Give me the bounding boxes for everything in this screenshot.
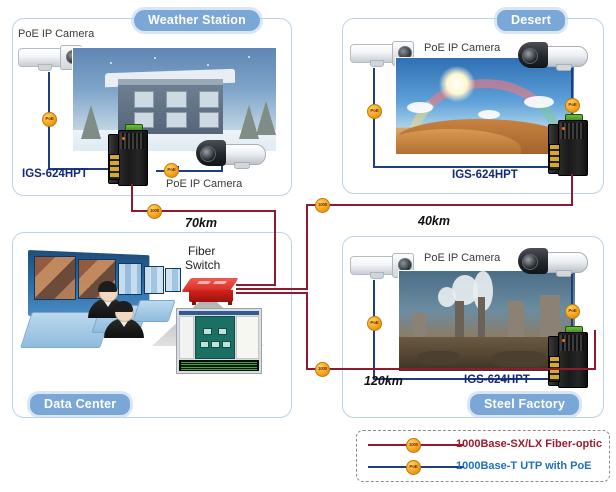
utp-line-factory-right <box>571 274 573 332</box>
legend-label-utp: 1000Base-T UTP with PoE <box>456 460 592 472</box>
fiber-switch-label-line1: Fiber <box>188 244 215 258</box>
fiber-switch-leg <box>192 301 196 305</box>
camera-mount <box>234 162 250 169</box>
poe-badge-desert-left: PoE <box>367 104 382 119</box>
device-label-weather-station: IGS-624HPT <box>22 168 88 180</box>
fiber-badge-70km: 1000 <box>147 204 162 219</box>
legend-badge-poe: PoE <box>406 460 421 475</box>
distance-label-40km: 40km <box>418 214 450 228</box>
switch-heatsink <box>120 133 144 149</box>
switch-heatsink <box>560 335 584 351</box>
snow-tree <box>81 105 101 139</box>
monitor-topology-pane <box>195 316 235 359</box>
monitor-graph-pane <box>236 316 259 359</box>
switch-heatsink <box>560 123 584 139</box>
switch-led-icon <box>122 137 125 140</box>
snow-tree <box>256 101 276 135</box>
switch-ports <box>549 144 560 170</box>
camera-factory-2 <box>518 248 588 276</box>
house-window <box>199 112 219 128</box>
topology-node <box>218 328 227 335</box>
panel-title-desert: Desert <box>497 10 565 31</box>
panel-title-weather-station: Weather Station <box>134 10 260 31</box>
operator-desk <box>132 300 175 322</box>
topology-node <box>200 341 209 348</box>
switch-weather-station <box>108 124 156 186</box>
fiber-line-factory-h <box>306 368 596 370</box>
rubble <box>417 351 459 365</box>
fiber-switch-leg <box>228 301 232 305</box>
sun-icon <box>439 66 475 102</box>
switch-desert <box>548 114 596 176</box>
rubble <box>491 351 545 367</box>
fiber-badge-120km: 1000 <box>315 362 330 377</box>
scene-weather-station <box>72 47 277 152</box>
video-wall-screen <box>34 256 76 300</box>
fiber-line-desert-into-switch <box>236 288 308 290</box>
topology-node <box>222 341 231 348</box>
device-label-desert: IGS-624HPT <box>452 169 518 181</box>
video-wall-screen <box>118 263 142 295</box>
topology-node <box>203 328 212 335</box>
fiber-line-weather-drop <box>131 184 133 212</box>
device-label-steel-factory: IGS-624HPT <box>464 374 530 386</box>
distance-label-120km: 120km <box>364 374 403 388</box>
utp-line-weather-right-up <box>221 166 223 172</box>
poe-badge-factory-right: PoE <box>565 304 580 319</box>
fiber-switch-slot <box>213 281 227 284</box>
switch-steel-factory <box>548 326 596 388</box>
camera-label-desert-1: PoE IP Camera <box>424 42 500 54</box>
poe-badge-weather-right: PoE <box>164 163 179 178</box>
fiber-line-desert-h <box>306 204 573 206</box>
distance-label-70km: 70km <box>185 216 217 230</box>
camera-label-weather-1: PoE IP Camera <box>18 28 94 40</box>
poe-badge-factory-left: PoE <box>367 316 382 331</box>
poe-badge-weather-left: PoE <box>42 112 57 127</box>
fiber-line-factory-up <box>306 292 308 370</box>
monitor-content <box>179 316 259 359</box>
camera-lens-icon <box>522 254 538 270</box>
house-window <box>166 112 186 128</box>
person-hair <box>98 281 117 292</box>
camera-lens-icon <box>522 48 538 64</box>
camera-lens-icon <box>200 146 216 162</box>
person-hair <box>114 301 133 312</box>
switch-led-icon <box>562 127 565 130</box>
fiber-line-weather-into-switch <box>236 284 276 286</box>
house-window <box>199 91 219 107</box>
snow-dot <box>183 71 185 73</box>
camera-weather-2 <box>196 140 266 168</box>
legend-label-fiber: 1000Base-SX/LX Fiber-optic <box>456 438 602 450</box>
video-wall-screen <box>144 266 164 294</box>
panel-title-data-center: Data Center <box>30 394 130 415</box>
camera-mount <box>38 64 52 71</box>
monitor-console-pane <box>179 360 259 371</box>
cloud <box>478 110 500 119</box>
fiber-switch-label-line2: Switch <box>185 258 220 272</box>
fiber-switch-device <box>186 278 242 306</box>
switch-ports <box>109 154 120 180</box>
poe-badge-desert-right: PoE <box>565 98 580 113</box>
topology-node <box>211 341 220 348</box>
fiber-line-desert-down <box>306 204 308 290</box>
panel-title-steel-factory: Steel Factory <box>470 394 579 415</box>
network-topology-diagram: Weather Station PoE IP Camera PoE <box>0 0 616 492</box>
monitor-titlebar <box>179 311 259 315</box>
camera-mount <box>556 64 572 71</box>
fiber-badge-40km: 1000 <box>315 198 330 213</box>
camera-label-weather-2: PoE IP Camera <box>166 178 242 190</box>
legend-badge-fiber: 1000 <box>406 438 421 453</box>
camera-desert-2 <box>518 42 588 70</box>
fiber-line-factory-drop <box>594 330 596 370</box>
management-monitor <box>176 308 262 374</box>
snow-dot <box>248 56 250 58</box>
fiber-switch-slot <box>197 281 211 284</box>
camera-mount <box>370 272 384 279</box>
monitor-tree-pane <box>179 316 194 359</box>
house-window <box>166 91 186 107</box>
cloud <box>407 102 433 113</box>
smoke-plume <box>438 287 456 307</box>
camera-label-factory-1: PoE IP Camera <box>424 252 500 264</box>
fiber-line-desert-drop <box>571 174 573 206</box>
utp-line-desert-left-bottom <box>373 166 573 168</box>
video-wall-screen <box>165 268 181 292</box>
fiber-line-weather-down <box>274 210 276 286</box>
fiber-line-factory-into-switch <box>236 292 308 294</box>
camera-mount <box>556 270 572 277</box>
camera-mount <box>370 60 384 67</box>
switch-led-icon <box>562 339 565 342</box>
house-window <box>134 91 154 107</box>
